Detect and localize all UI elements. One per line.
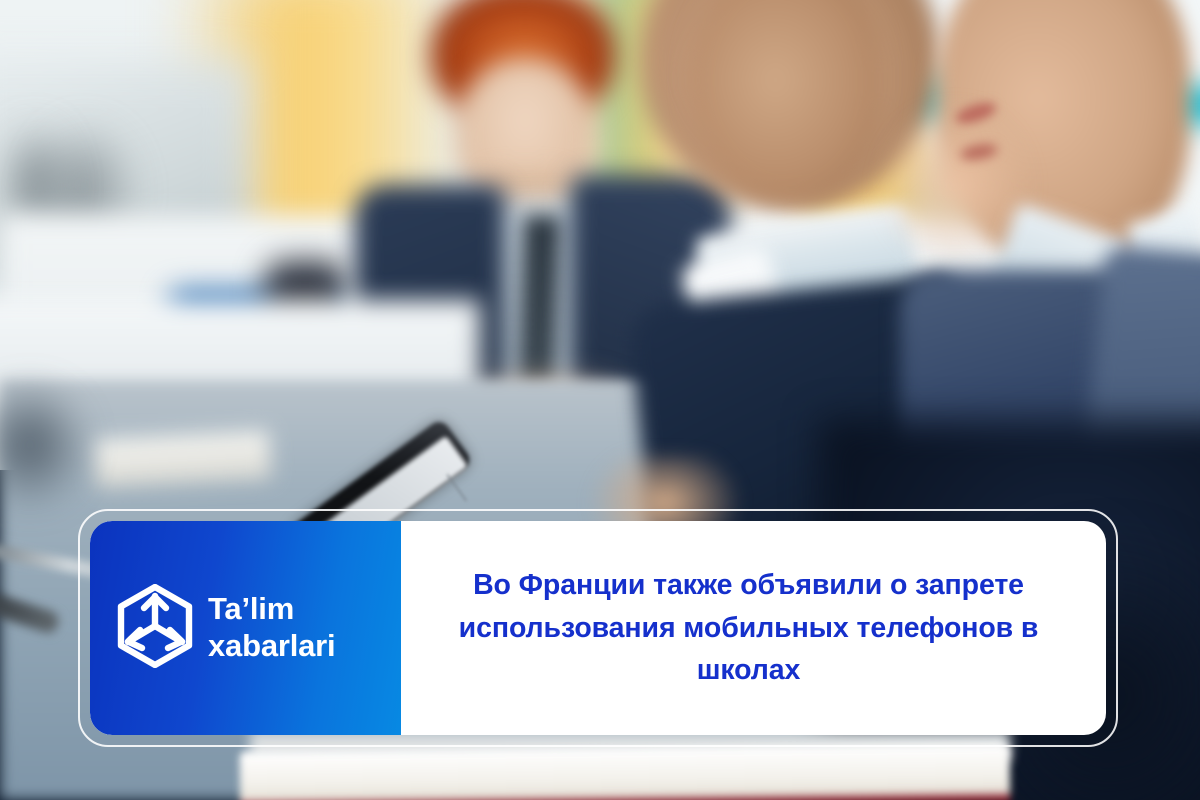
open-notebook xyxy=(240,744,1011,800)
desk-book xyxy=(94,430,271,487)
banner-inner: Ta’lim xabarlari Во Франции также объяви… xyxy=(90,521,1106,735)
brand-name: Ta’lim xabarlari xyxy=(208,591,335,664)
news-banner-card: Ta’lim xabarlari Во Франции также объяви… xyxy=(78,509,1118,747)
headline-text: Во Франции также объявили о запрете испо… xyxy=(435,564,1062,692)
foreground-shadow-left xyxy=(0,380,90,510)
brand-name-line1: Ta’lim xyxy=(208,591,294,626)
brand-panel[interactable]: Ta’lim xabarlari xyxy=(90,521,401,735)
brand-name-line2: xabarlari xyxy=(208,628,335,663)
headline-area: Во Франции также объявили о запрете испо… xyxy=(401,521,1106,735)
cube-logo-icon xyxy=(116,584,194,673)
